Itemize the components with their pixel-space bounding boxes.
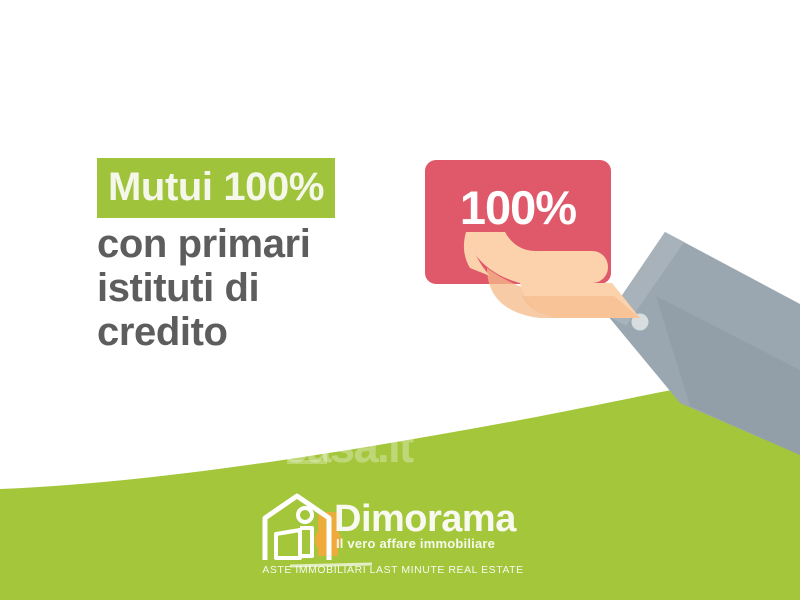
logo-tagline: Il vero affare immobiliare bbox=[336, 537, 495, 550]
logo-wordmark: Dimorama bbox=[334, 500, 516, 538]
promo-banner: Mutui 100% con primari istituti di credi… bbox=[0, 0, 800, 600]
headline-highlight: Mutui 100% bbox=[97, 158, 335, 218]
logo-subline: ASTE IMMOBILIARI LAST MINUTE REAL ESTATE bbox=[259, 565, 527, 576]
dimorama-logo: Dimorama Il vero affare immobiliare ASTE… bbox=[256, 492, 556, 592]
headline-line-2: istituti di bbox=[97, 267, 417, 310]
headline-line-1: con primari bbox=[97, 223, 417, 266]
headline-body: con primari istituti di credito bbox=[97, 223, 417, 353]
headline-line-3: credito bbox=[97, 311, 417, 354]
headline-block: Mutui 100% con primari istituti di credi… bbox=[97, 158, 417, 353]
